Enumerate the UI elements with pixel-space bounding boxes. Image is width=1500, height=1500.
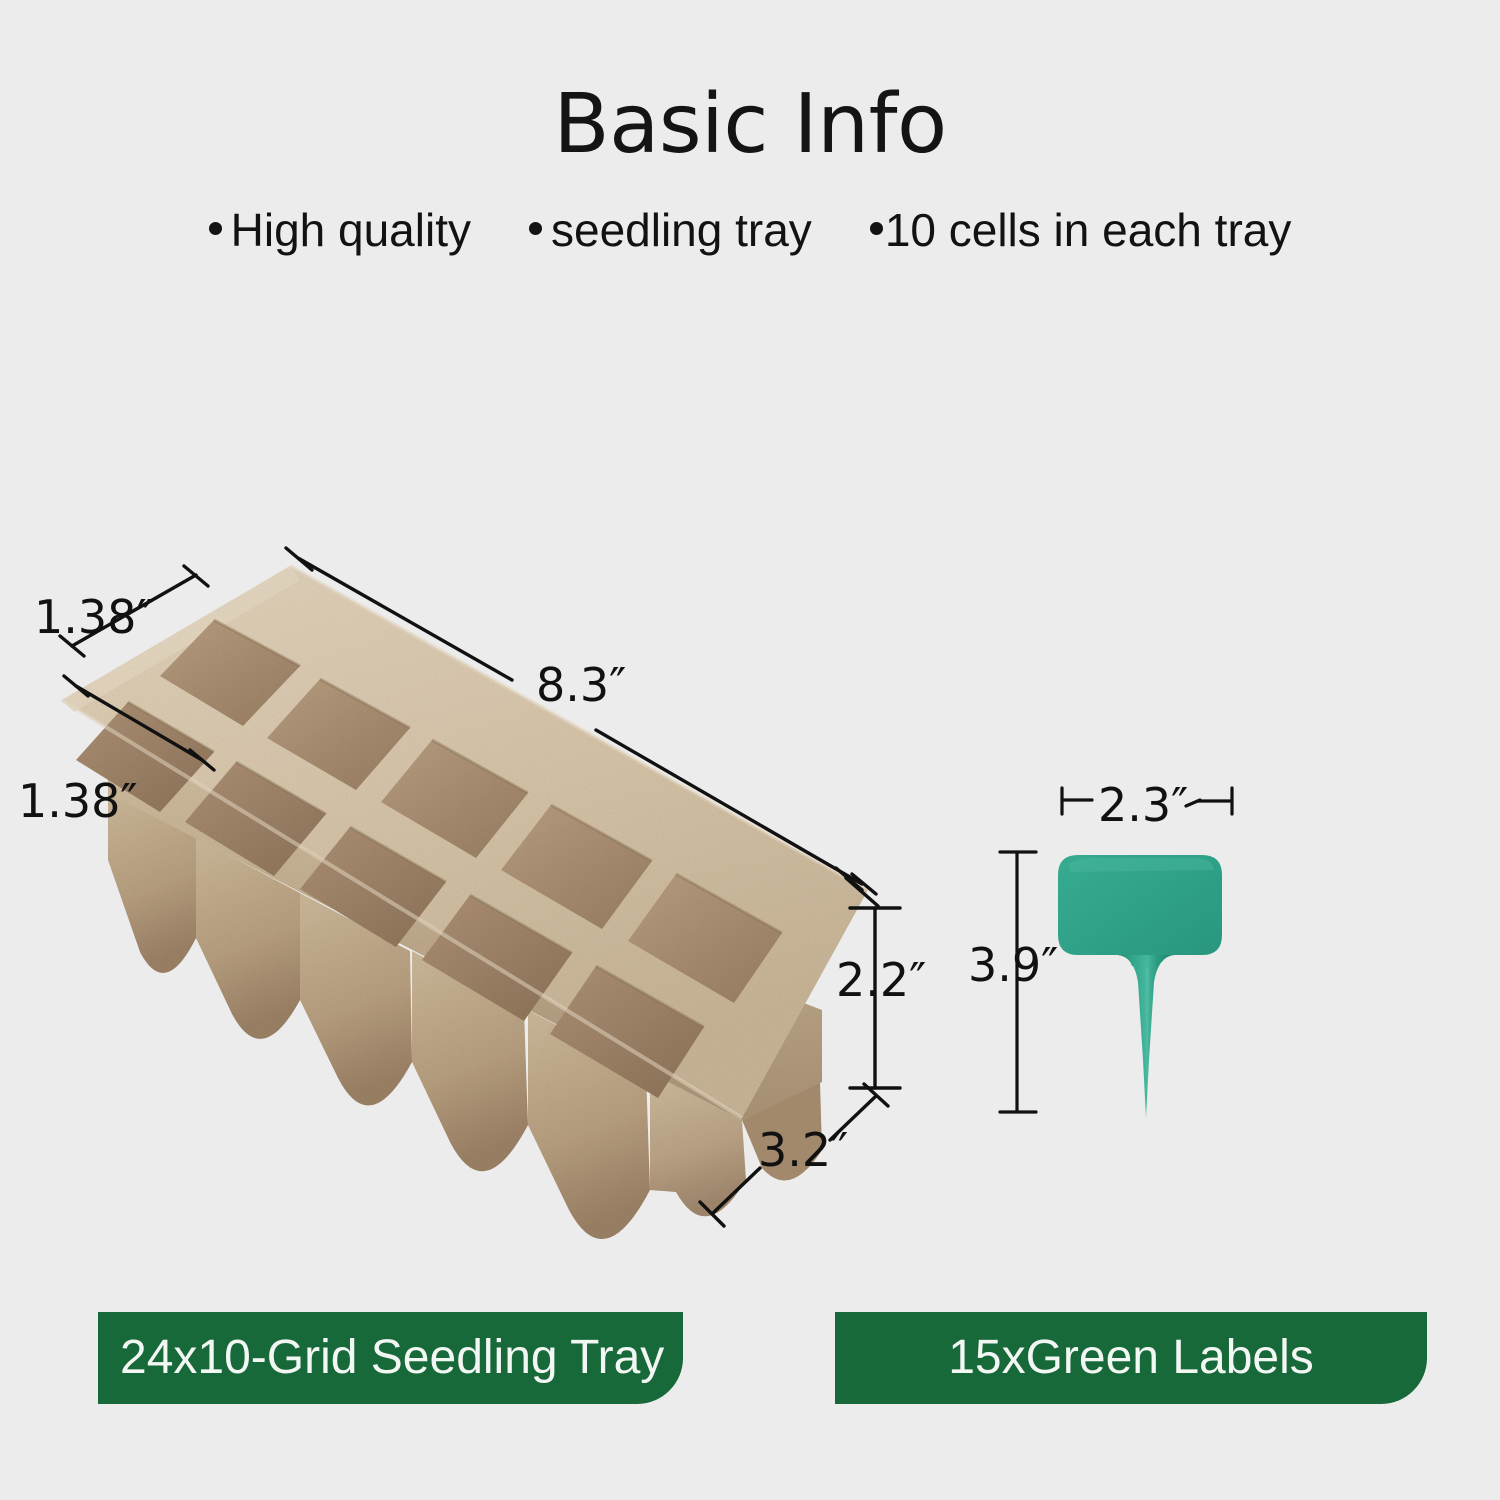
tray-cell [300, 827, 446, 947]
dimension-label-cell-depth: 1.38″ [18, 776, 138, 826]
tray-cell [550, 966, 704, 1098]
list-item: seedling tray [529, 200, 812, 260]
tray-cell [628, 874, 782, 1003]
list-item: 10 cells in each tray [870, 200, 1292, 260]
tray-top-rim [62, 566, 868, 1118]
tray-front-wall [108, 738, 822, 1120]
label-head [1058, 855, 1222, 966]
dimension-label-label-height: 3.9″ [968, 940, 1058, 990]
caption-banner-tray-text: 24x10-Grid Seedling Tray [120, 1330, 664, 1386]
bullet-label: seedling tray [551, 200, 812, 260]
tray-cell [422, 895, 572, 1021]
dimension-label-tray-length: 8.3″ [536, 660, 626, 710]
page-title: Basic Info [0, 78, 1500, 172]
list-item: High quality [209, 200, 471, 260]
dim-line-tray-width-2 [712, 1168, 760, 1214]
bullet-label: 10 cells in each tray [885, 200, 1292, 260]
tray-cell [501, 805, 652, 929]
dim-line-cell-depth [76, 686, 202, 760]
dimension-label-tray-height: 2.2″ [836, 955, 926, 1005]
bullet-dot-icon [529, 222, 542, 235]
label-stake [1118, 955, 1174, 1118]
tray-cell [267, 679, 410, 790]
dim-line-tray-length [298, 558, 512, 680]
dimension-label-tray-width: 3.2″ [758, 1125, 848, 1175]
caption-banner-labels-text: 15xGreen Labels [948, 1330, 1314, 1386]
bullet-dot-icon [870, 222, 883, 235]
bullet-dot-icon [209, 222, 222, 235]
product-infographic: Basic Info High quality seedling tray 10… [0, 0, 1500, 1500]
dimension-label-cell-width: 1.38″ [34, 592, 154, 642]
feature-bullet-list: High quality seedling tray 10 cells in e… [0, 200, 1500, 260]
caption-banner-tray: 24x10-Grid Seedling Tray [98, 1312, 683, 1404]
tray-cup-bottoms [108, 793, 746, 1239]
seedling-tray-illustration [62, 566, 868, 1239]
tray-cell [160, 620, 300, 726]
caption-banner-labels: 15xGreen Labels [835, 1312, 1427, 1404]
dim-line-tray-length-2 [596, 730, 862, 884]
tray-cell-row-back [160, 620, 782, 1003]
tray-cell-row-front [76, 702, 704, 1098]
dimension-label-label-width: 2.3″ [1098, 780, 1188, 830]
tray-cell [381, 740, 528, 858]
bullet-label: High quality [231, 200, 471, 260]
green-plant-label-illustration [1058, 855, 1222, 1118]
tray-cell [185, 762, 326, 876]
